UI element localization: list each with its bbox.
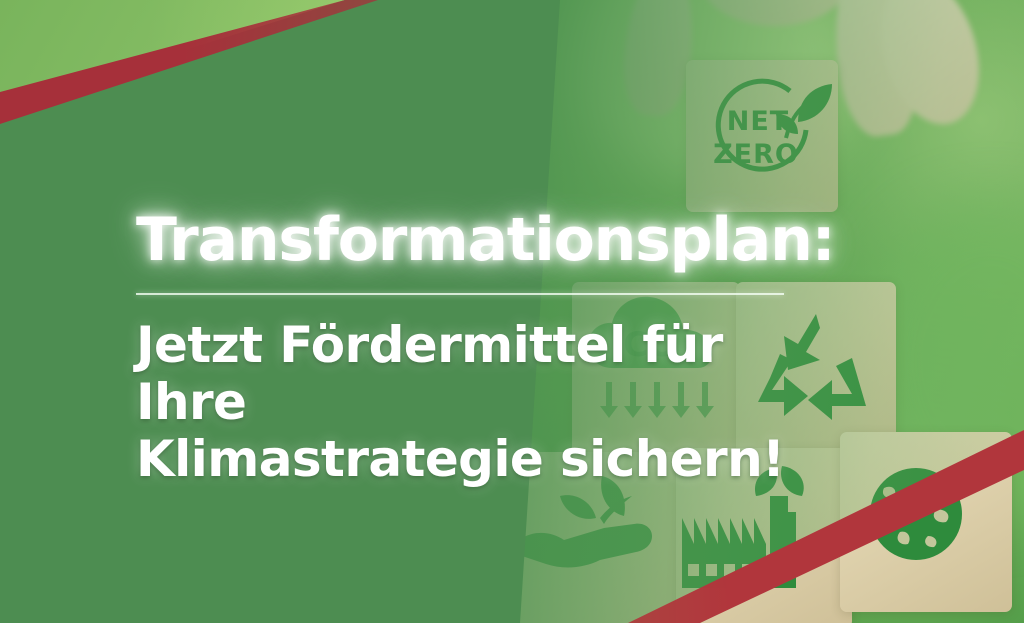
headline-block: Transformationsplan: Jetzt Fördermittel … xyxy=(136,208,836,488)
banner-subtitle: Jetzt Fördermittel für Ihre Klimastrateg… xyxy=(136,317,836,488)
banner-subtitle-line-2: Klimastrategie sichern! xyxy=(136,431,836,488)
banner-title: Transformationsplan: xyxy=(136,208,836,272)
promotional-banner: NET ZERO CO xyxy=(0,0,1024,623)
title-divider-rule xyxy=(136,293,784,295)
banner-subtitle-line-1: Jetzt Fördermittel für Ihre xyxy=(136,317,836,431)
